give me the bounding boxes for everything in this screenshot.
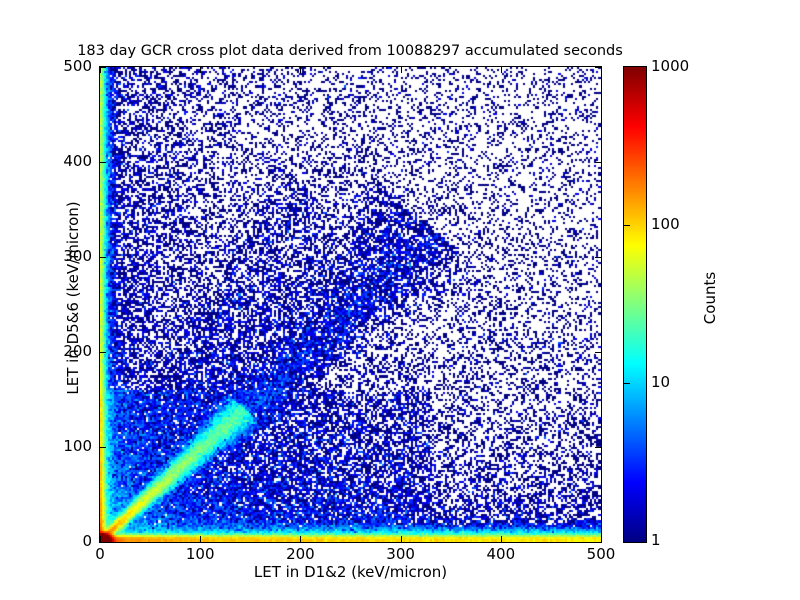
- x-tick-mark: [501, 536, 502, 542]
- y-tick-mark-right: [595, 162, 601, 163]
- x-tick-mark-top: [200, 67, 201, 73]
- x-tick-mark: [601, 536, 602, 542]
- plot-title-line-1: 183 day GCR cross plot data derived from…: [0, 42, 700, 60]
- figure-canvas: 183 day GCR cross plot data derived from…: [0, 0, 800, 600]
- colorbar[interactable]: [623, 66, 647, 543]
- x-tick-mark: [200, 536, 201, 542]
- y-tick-mark: [100, 542, 106, 543]
- x-tick-mark-top: [601, 67, 602, 73]
- y-tick-mark-right: [595, 257, 601, 258]
- colorbar-gradient: [624, 67, 646, 542]
- y-tick-label: 0: [0, 534, 92, 549]
- colorbar-tick-mark: [624, 383, 630, 384]
- x-tick-label: 100: [186, 547, 215, 562]
- y-tick-mark: [100, 257, 106, 258]
- y-axis-title: LET in D5&6 (keV/micron): [64, 88, 82, 508]
- x-tick-label: 400: [486, 547, 515, 562]
- x-tick-mark-top: [501, 67, 502, 73]
- x-tick-mark-top: [300, 67, 301, 73]
- colorbar-tick-mark: [624, 225, 630, 226]
- scatter-heatmap-canvas: [100, 67, 601, 542]
- plot-axes[interactable]: [99, 66, 602, 543]
- x-tick-label: 500: [587, 547, 616, 562]
- y-tick-mark: [100, 162, 106, 163]
- y-tick-mark-right: [595, 447, 601, 448]
- x-tick-mark-top: [401, 67, 402, 73]
- x-axis-title: LET in D1&2 (keV/micron): [99, 563, 602, 581]
- y-tick-mark: [100, 352, 106, 353]
- x-tick-label: 300: [386, 547, 415, 562]
- colorbar-tick-label: 1000: [651, 59, 689, 74]
- y-tick-label: 500: [0, 59, 92, 74]
- y-tick-mark: [100, 447, 106, 448]
- x-tick-mark-top: [100, 67, 101, 73]
- y-tick-mark-right: [595, 352, 601, 353]
- colorbar-tick-label: 10: [651, 375, 670, 390]
- colorbar-title: Counts: [701, 188, 719, 408]
- x-tick-label: 0: [95, 547, 105, 562]
- y-tick-mark-right: [595, 542, 601, 543]
- colorbar-tick-label: 100: [651, 217, 680, 232]
- x-tick-mark: [100, 536, 101, 542]
- x-tick-label: 200: [286, 547, 315, 562]
- x-tick-mark: [401, 536, 402, 542]
- colorbar-tick-label: 1: [651, 533, 661, 548]
- x-tick-mark: [300, 536, 301, 542]
